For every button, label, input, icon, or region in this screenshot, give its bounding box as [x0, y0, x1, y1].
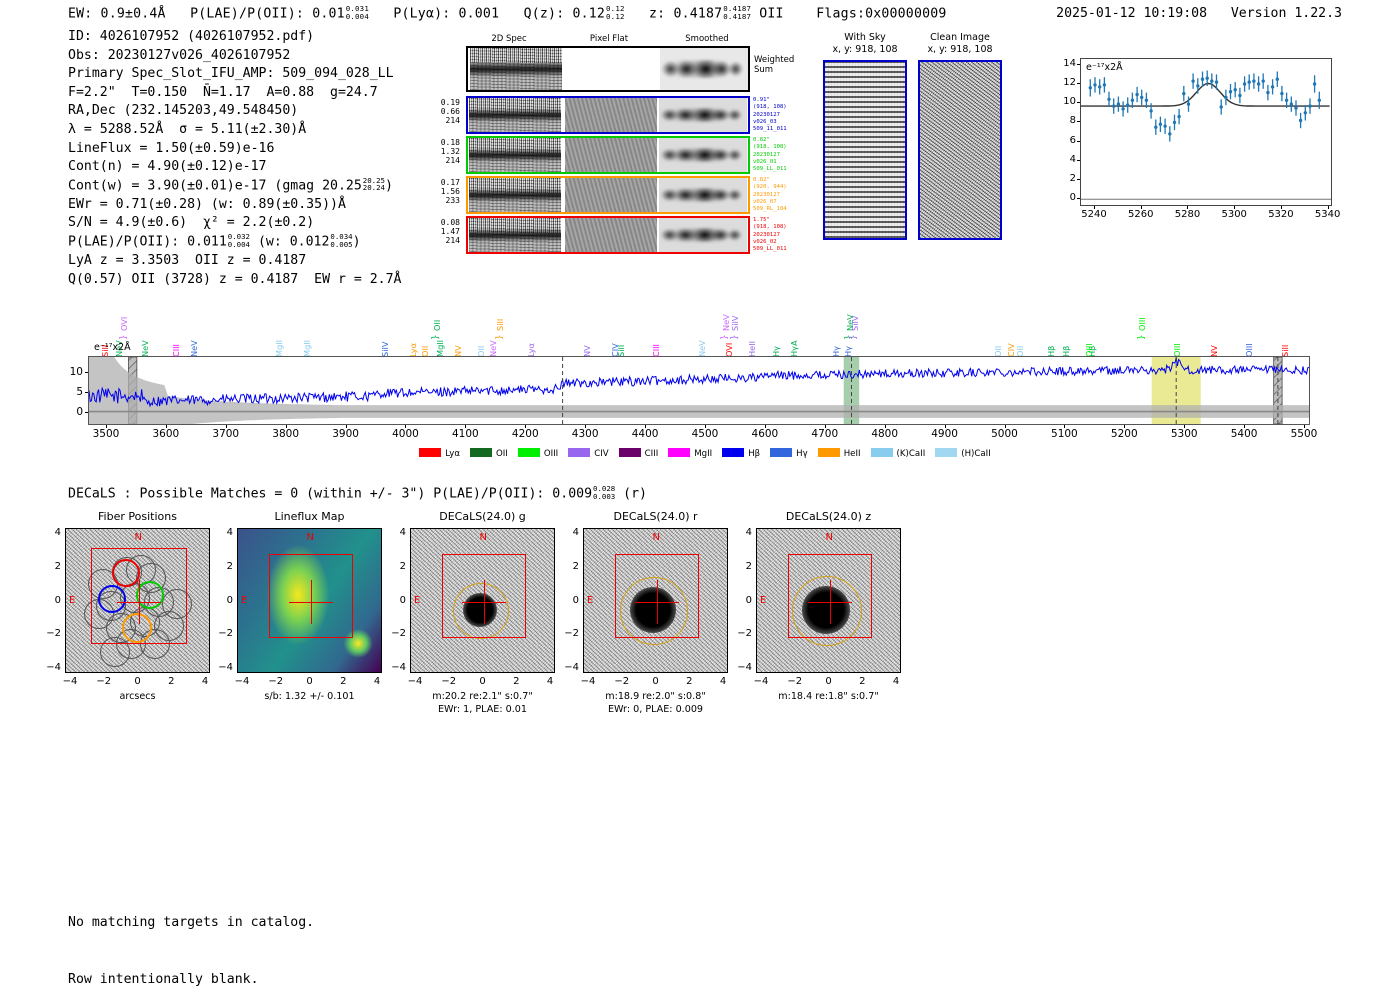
cutout-x-tick: 2 — [329, 676, 357, 687]
cutout-y-tick: 0 — [213, 595, 233, 606]
emission-line-label: MgII — [274, 340, 284, 357]
info-radec: RA,Dec (232.145203,49.548450) — [68, 102, 401, 121]
cutout-x-tick: −4 — [574, 676, 602, 687]
legend-swatch — [935, 448, 957, 457]
cutout-y-tick: 2 — [41, 561, 61, 572]
spectrum-x-tick: 4300 — [560, 428, 610, 440]
spectrum-x-tick-mark — [1064, 425, 1065, 428]
spectrum-x-tick: 4800 — [860, 428, 910, 440]
cutout-caption-secondary: EWr: 1, PLAE: 0.01 — [388, 704, 578, 716]
emission-line-label: HγA — [789, 340, 799, 357]
cutout-x-tick: 0 — [815, 676, 843, 687]
spectrum-x-tick: 4200 — [500, 428, 550, 440]
cutout-title: DECaLS(24.0) z — [756, 510, 901, 523]
cutout-caption-primary: s/b: 1.32 +/- 0.101 — [215, 691, 405, 703]
decals-cutout-panel[interactable]: DECaLS(24.0) zNE — [756, 528, 901, 673]
fiber-metric: 1.47 — [436, 227, 460, 236]
header-plae-poii: P(LAE)/P(OII): 0.01 — [190, 6, 345, 21]
fiber-metric: 0.08 — [436, 218, 460, 227]
fiber-meta-line: 509_LL_011 — [753, 246, 813, 253]
spectrum-x-tick: 4400 — [620, 428, 670, 440]
fiber-side-numbers: 0.081.47214 — [436, 218, 460, 246]
with-sky-title: With Sky — [820, 32, 910, 43]
info-id: ID: 4026107952 (4026107952.pdf) — [68, 28, 401, 47]
info-plae-errors: 0.0320.004 — [228, 233, 250, 248]
cutout-y-tick: 4 — [732, 527, 752, 538]
fiber-metric: 214 — [436, 116, 460, 125]
line-fit-flux-annotation: e⁻¹⁷x2Å — [1086, 62, 1123, 73]
cutout-y-tick: −2 — [213, 628, 233, 639]
emission-line-label: HeII — [747, 341, 757, 357]
cutout-image: NE — [583, 528, 728, 673]
cutout-x-tick: 0 — [124, 676, 152, 687]
header-summary-line: EW: 0.9±0.4Å P(LAE)/P(OII): 0.010.0310.0… — [68, 5, 947, 21]
emission-line-label: Lyα — [408, 343, 418, 357]
legend-label: (H)CaII — [961, 449, 991, 459]
spectrum-x-tick: 3600 — [141, 428, 191, 440]
cutout-y-tick: −4 — [41, 662, 61, 673]
cutout-y-tick: 2 — [386, 561, 406, 572]
spec2d-fiber-row — [466, 136, 750, 174]
cutout-x-tick: 0 — [296, 676, 324, 687]
compass-north-label: N — [480, 532, 487, 543]
emission-line-brace: } — [849, 335, 859, 340]
full-spectrum-frame — [88, 356, 1310, 425]
fiber-metric: 0.66 — [436, 107, 460, 116]
spectrum-y-tick: 5 — [58, 386, 83, 398]
emission-line-label: SiII — [495, 319, 505, 331]
cutout-x-tick: −2 — [435, 676, 463, 687]
cutout-x-tick: 4 — [536, 676, 564, 687]
line-fit-plot: e⁻¹⁷x2Å 524052605280530053205340 0246810… — [1040, 50, 1348, 245]
fit-x-tick: 5260 — [1121, 209, 1161, 220]
legend-label: HeII — [844, 449, 861, 459]
fiber-side-metadata: 0.82"(918, 108)20230127v026_01509_LL_011 — [753, 137, 813, 173]
spectrum-x-tick-mark — [765, 425, 766, 428]
spec2d-weighted-sum-row — [466, 46, 750, 92]
fiber-metric: 0.18 — [436, 138, 460, 147]
cutout-caption-primary: arcsecs — [43, 691, 233, 703]
spectrum-y-tick: 10 — [58, 366, 83, 378]
spectrum-x-tick-mark — [945, 425, 946, 428]
spectrum-y-tick: 0 — [58, 406, 83, 418]
fit-y-tick: 10 — [1050, 96, 1076, 107]
decals-cutout-panel[interactable]: Fiber PositionsNE — [65, 528, 210, 673]
cutout-y-tick: 2 — [732, 561, 752, 572]
header-z-species: OII — [759, 6, 783, 21]
spectrum-x-tick-mark — [1124, 425, 1125, 428]
cutout-y-tick: −2 — [41, 628, 61, 639]
cutout-x-tick: −2 — [608, 676, 636, 687]
info-primary-spec-slot: Primary Spec_Slot_IFU_AMP: 509_094_028_L… — [68, 65, 401, 84]
fiber-meta-line: 0.82" — [753, 177, 813, 184]
weighted-sum-label: Weighted Sum — [754, 55, 794, 75]
fiber-2dspec-image — [469, 218, 561, 252]
fiber-metric: 214 — [436, 236, 460, 245]
fiber-smoothed-image — [659, 98, 747, 132]
emission-line-label: NeV — [140, 340, 150, 357]
cutout-y-tick: 4 — [559, 527, 579, 538]
legend-swatch — [619, 448, 641, 457]
fiber-smoothed-image — [659, 178, 747, 212]
spectrum-x-tick: 5400 — [1219, 428, 1269, 440]
spectrum-x-tick: 4700 — [800, 428, 850, 440]
legend-label: Lyα — [445, 449, 460, 459]
fiber-meta-line: 20230127 — [753, 112, 813, 119]
footer-line-1: No matching targets in catalog. — [68, 913, 314, 932]
cutout-image: NE — [237, 528, 382, 673]
header-datetime: 2025-01-12 10:19:08 — [1056, 6, 1207, 21]
fiber-metric: 1.32 — [436, 147, 460, 156]
fit-y-tick-mark — [1077, 141, 1080, 142]
info-obs: Obs: 20230127v026_4026107952 — [68, 47, 401, 66]
spectrum-x-tick: 4600 — [740, 428, 790, 440]
weighted-sum-pixelflat-image — [566, 48, 658, 90]
fit-y-tick: 12 — [1050, 77, 1076, 88]
spectrum-y-tick-mark — [85, 372, 88, 373]
fiber-meta-line: (918, 108) — [753, 224, 813, 231]
cutout-y-tick: 2 — [213, 561, 233, 572]
crosshair-horizontal — [289, 602, 333, 603]
crosshair-horizontal — [808, 602, 852, 603]
emission-line-label: OIII — [1084, 343, 1094, 357]
fit-y-tick-mark — [1077, 64, 1080, 65]
emission-line-brace: } — [119, 335, 129, 340]
crosshair-horizontal — [635, 602, 679, 603]
header-z-errors: 0.41870.4187 — [723, 5, 751, 20]
cutout-y-tick: 0 — [41, 595, 61, 606]
info-lineflux: LineFlux = 1.50(±0.59)e-16 — [68, 140, 401, 159]
emission-line-brace: } — [495, 335, 505, 340]
fit-x-tick: 5240 — [1074, 209, 1114, 220]
info-cont-w: Cont(w) = 3.90(±0.01)e-17 (gmag 20.2520.… — [68, 177, 401, 196]
spectrum-x-tick: 4500 — [680, 428, 730, 440]
compass-east-label: E — [69, 595, 75, 606]
emission-line-label: MgII — [302, 340, 312, 357]
line-fit-plot-svg — [1081, 59, 1331, 205]
full-spectrum-svg — [89, 357, 1309, 424]
fiber-metric: 1.56 — [436, 187, 460, 196]
fiber-pixelflat-image — [565, 98, 657, 132]
fit-x-tick: 5300 — [1214, 209, 1254, 220]
spectrum-x-tick-mark — [825, 425, 826, 428]
info-seeing-params: F=2.2" T=0.150 N̄=1.17 A=0.88 g=24.7 — [68, 84, 401, 103]
info-plae-poii: P(LAE)/P(OII): 0.0110.0320.004 (w: 0.012… — [68, 233, 401, 252]
line-fit-plot-frame — [1080, 58, 1332, 206]
spectrum-x-tick: 3800 — [261, 428, 311, 440]
fiber-2dspec-image — [469, 138, 561, 172]
spectrum-x-tick-mark — [286, 425, 287, 428]
fit-x-tick: 5280 — [1167, 209, 1207, 220]
fit-y-tick-mark — [1077, 198, 1080, 199]
fiber-meta-line: 509_RL_104 — [753, 206, 813, 213]
fiber-side-numbers: 0.190.66214 — [436, 98, 460, 126]
header-timestamp-version: 2025-01-12 10:19:08 Version 1.22.3 — [1056, 6, 1342, 21]
header-qz-errors: 0.120.12 — [606, 5, 625, 20]
info-wavelength-sigma: λ = 5288.52Å σ = 5.11(±2.30)Å — [68, 121, 401, 140]
spec2d-fiber-row — [466, 216, 750, 254]
fiber-side-metadata: 1.75"(918, 108)20230127v026_02509_LL_011 — [753, 217, 813, 253]
fiber-metric: 0.17 — [436, 178, 460, 187]
spec2d-fiber-row — [466, 96, 750, 134]
header-version: Version 1.22.3 — [1231, 6, 1342, 21]
cutout-x-tick: 4 — [363, 676, 391, 687]
fit-y-tick-mark — [1077, 121, 1080, 122]
fiber-pixelflat-image — [565, 218, 657, 252]
spectrum-y-tick-mark — [85, 412, 88, 413]
cutout-y-tick: 4 — [386, 527, 406, 538]
fiber-side-metadata: 0.91"(918, 108)20230127v026_03509_11_011 — [753, 97, 813, 133]
fiber-smoothed-image — [659, 218, 747, 252]
cutout-caption-primary: m:18.9 re:2.0" s:0.8" — [561, 691, 751, 703]
emission-line-brace: } — [730, 335, 740, 340]
header-flags: Flags:0x00000009 — [816, 6, 946, 21]
cutout-caption-primary: m:18.4 re:1.8" s:0.7" — [734, 691, 924, 703]
fiber-pixelflat-image — [565, 178, 657, 212]
header-z: z: 0.4187 — [649, 6, 722, 21]
fiber-side-numbers: 0.181.32214 — [436, 138, 460, 166]
cutout-x-tick: −4 — [56, 676, 84, 687]
spectrum-x-tick-mark — [166, 425, 167, 428]
spectrum-x-tick: 4100 — [440, 428, 490, 440]
cutout-x-tick: 2 — [848, 676, 876, 687]
emission-line-label: OII — [432, 320, 442, 331]
spec2d-col-header-smoothed: Smoothed — [660, 34, 754, 44]
fit-y-tick: 6 — [1050, 135, 1076, 146]
fit-x-tick-mark — [1234, 206, 1235, 209]
legend-swatch — [668, 448, 690, 457]
decals-header-text: DECaLS : Possible Matches = 0 (within +/… — [68, 486, 592, 501]
cutout-title: Lineflux Map — [237, 510, 382, 523]
cutout-y-tick: 4 — [41, 527, 61, 538]
cutout-x-tick: 2 — [675, 676, 703, 687]
legend-swatch — [871, 448, 893, 457]
spectrum-y-tick-mark — [85, 392, 88, 393]
emission-line-label: OVI — [119, 317, 129, 331]
legend-swatch — [568, 448, 590, 457]
fiber-meta-line: (920, 944) — [753, 184, 813, 191]
cutout-x-tick: −4 — [228, 676, 256, 687]
decals-cutout-panel[interactable]: DECaLS(24.0) rNE — [583, 528, 728, 673]
spec2d-col-header-2dspec: 2D Spec — [462, 34, 556, 44]
cutout-y-tick: 0 — [559, 595, 579, 606]
fit-x-tick-mark — [1328, 206, 1329, 209]
fiber-side-numbers: 0.171.56233 — [436, 178, 460, 206]
decals-cutout-panel[interactable]: DECaLS(24.0) gNE — [410, 528, 555, 673]
fiber-meta-line: v026_01 — [753, 159, 813, 166]
cutout-x-tick: 2 — [502, 676, 530, 687]
emission-line-brace: } — [720, 335, 730, 340]
fit-y-tick: 14 — [1050, 58, 1076, 69]
spec2d-col-header-pixelflat: Pixel Flat — [562, 34, 656, 44]
cutout-caption-primary: m:20.2 re:2.1" s:0.7" — [388, 691, 578, 703]
spectrum-x-tick-mark — [1304, 425, 1305, 428]
cutout-x-tick: −4 — [747, 676, 775, 687]
fit-y-tick-mark — [1077, 179, 1080, 180]
info-cont-n: Cont(n) = 4.90(±0.12)e-17 — [68, 158, 401, 177]
spectrum-x-tick-mark — [645, 425, 646, 428]
cutout-caption-secondary: EWr: 0, PLAE: 0.009 — [561, 704, 751, 716]
decals-plae-errors: 0.0280.003 — [593, 485, 615, 500]
fit-y-tick: 8 — [1050, 115, 1076, 126]
info-ewr: EWr = 0.71(±0.28) (w: 0.89(±0.35))Å — [68, 196, 401, 215]
fiber-smoothed-image — [659, 138, 747, 172]
emission-line-brace: } — [1137, 335, 1147, 340]
spectrum-x-tick-mark — [226, 425, 227, 428]
compass-east-label: E — [241, 595, 247, 606]
legend-label: OII — [496, 449, 508, 459]
emission-line-brace: } — [431, 335, 441, 340]
fiber-2dspec-image — [469, 178, 561, 212]
spectrum-legend: LyαOIIOIIICIVCIIIMgIIHβHγHeII(K)CaII(H)C… — [0, 448, 1400, 459]
legend-label: Hγ — [796, 449, 808, 459]
fit-x-tick: 5320 — [1261, 209, 1301, 220]
cutout-x-tick: −2 — [262, 676, 290, 687]
spectrum-x-tick: 5000 — [980, 428, 1030, 440]
emission-line-label: NeV — [488, 340, 498, 357]
fiber-metric: 214 — [436, 156, 460, 165]
info-plae-w-errors: 0.0340.005 — [330, 233, 352, 248]
legend-label: CIV — [594, 449, 608, 459]
fiber-2dspec-image — [469, 98, 561, 132]
legend-swatch — [470, 448, 492, 457]
spectrum-x-tick-mark — [525, 425, 526, 428]
emission-line-label: OIII — [1137, 317, 1147, 331]
emission-line-label: NeV — [697, 340, 707, 357]
spectrum-x-tick: 5300 — [1159, 428, 1209, 440]
fit-x-tick-mark — [1141, 206, 1142, 209]
fit-y-tick-mark — [1077, 160, 1080, 161]
cutout-y-tick: 0 — [732, 595, 752, 606]
cutout-y-tick: −2 — [386, 628, 406, 639]
compass-east-label: E — [587, 595, 593, 606]
legend-label: MgII — [694, 449, 712, 459]
fiber-meta-line: v026_07 — [753, 199, 813, 206]
spectrum-x-tick: 3900 — [321, 428, 371, 440]
fit-y-tick-mark — [1077, 83, 1080, 84]
fiber-meta-line: (918, 108) — [753, 104, 813, 111]
with-sky-image — [823, 60, 907, 240]
spectrum-x-tick-mark — [1244, 425, 1245, 428]
legend-swatch — [722, 448, 744, 457]
cutout-x-tick: −2 — [90, 676, 118, 687]
emission-line-label: NeV — [189, 340, 199, 357]
info-sn-chi2: S/N = 4.9(±0.6) χ² = 2.2(±0.2) — [68, 214, 401, 233]
cutout-y-tick: 2 — [559, 561, 579, 572]
compass-north-label: N — [307, 532, 314, 543]
legend-label: Hβ — [748, 449, 760, 459]
cutout-y-tick: −4 — [559, 662, 579, 673]
emission-line-label: SiIV — [380, 342, 390, 358]
spectrum-x-tick-mark — [346, 425, 347, 428]
with-sky-subtitle: x, y: 918, 108 — [820, 44, 910, 55]
cutout-x-tick: 4 — [709, 676, 737, 687]
fiber-meta-line: 1.75" — [753, 217, 813, 224]
header-qz: Q(z): 0.12 — [524, 6, 605, 21]
spectrum-x-tick-mark — [885, 425, 886, 428]
spectrum-x-tick-mark — [1005, 425, 1006, 428]
compass-north-label: N — [135, 532, 142, 543]
info-gmag-errors: 20.2520.24 — [363, 177, 385, 192]
emission-line-label: Lyα — [526, 343, 536, 357]
spectrum-x-tick: 3500 — [81, 428, 131, 440]
fiber-meta-line: 20230127 — [753, 152, 813, 159]
fit-x-tick-mark — [1187, 206, 1188, 209]
fiber-meta-line: 20230127 — [753, 192, 813, 199]
source-info-block: ID: 4026107952 (4026107952.pdf) Obs: 202… — [68, 28, 401, 289]
decals-header-band: (r) — [623, 486, 647, 501]
fiber-pixelflat-image — [565, 138, 657, 172]
cutout-x-tick: 4 — [191, 676, 219, 687]
spectrum-x-tick-mark — [705, 425, 706, 428]
decals-header: DECaLS : Possible Matches = 0 (within +/… — [68, 485, 647, 501]
cutout-y-tick: −4 — [732, 662, 752, 673]
fiber-metric: 233 — [436, 196, 460, 205]
cutout-title: DECaLS(24.0) g — [410, 510, 555, 523]
cutout-y-tick: 0 — [386, 595, 406, 606]
footer-line-2: Row intentionally blank. — [68, 970, 314, 989]
clean-image-title: Clean Image — [915, 32, 1005, 43]
spectrum-x-tick: 4000 — [380, 428, 430, 440]
cutout-x-tick: 0 — [642, 676, 670, 687]
cutout-image: NE — [410, 528, 555, 673]
cutout-image: NE — [65, 528, 210, 673]
cutout-y-tick: 4 — [213, 527, 233, 538]
cutout-x-tick: 4 — [882, 676, 910, 687]
fiber-side-metadata: 0.82"(920, 944)20230127v026_07509_RL_104 — [753, 177, 813, 213]
fit-x-tick: 5340 — [1308, 209, 1348, 220]
cutout-x-tick: −2 — [781, 676, 809, 687]
cutout-y-tick: −2 — [732, 628, 752, 639]
footer-note: No matching targets in catalog. Row inte… — [68, 875, 314, 1008]
fit-y-tick: 4 — [1050, 154, 1076, 165]
fit-y-tick: 2 — [1050, 173, 1076, 184]
fiber-meta-line: v026_03 — [753, 119, 813, 126]
emission-line-label: SiIV — [730, 316, 740, 332]
cutout-image: NE — [756, 528, 901, 673]
cutout-x-tick: 2 — [157, 676, 185, 687]
compass-east-label: E — [760, 595, 766, 606]
spectrum-x-tick-mark — [1184, 425, 1185, 428]
header-plya: P(Lyα): 0.001 — [393, 6, 499, 21]
fiber-meta-line: 0.91" — [753, 97, 813, 104]
emission-line-label: OVI — [724, 343, 734, 357]
header-plae-errors: 0.0310.004 — [346, 5, 369, 20]
clean-image-image — [918, 60, 1002, 240]
legend-label: OIII — [544, 449, 558, 459]
fit-x-tick-mark — [1281, 206, 1282, 209]
fiber-meta-line: (918, 108) — [753, 144, 813, 151]
emission-line-label: MgII — [435, 340, 445, 357]
spectrum-x-tick-mark — [465, 425, 466, 428]
spectrum-x-tick: 5500 — [1279, 428, 1329, 440]
weighted-sum-2dspec-image — [470, 48, 562, 90]
spec2d-fiber-row — [466, 176, 750, 214]
decals-cutout-panel[interactable]: Lineflux MapNE — [237, 528, 382, 673]
cutout-y-tick: −4 — [213, 662, 233, 673]
fit-x-tick-mark — [1094, 206, 1095, 209]
emission-line-label: OIII — [1244, 343, 1254, 357]
spectrum-x-tick-mark — [106, 425, 107, 428]
fiber-meta-line: 509_LL_011 — [753, 166, 813, 173]
clean-image-subtitle: x, y: 918, 108 — [915, 44, 1005, 55]
spectrum-x-tick-mark — [405, 425, 406, 428]
fit-y-tick: 0 — [1050, 192, 1076, 203]
cutout-x-tick: −4 — [401, 676, 429, 687]
cutout-title: Fiber Positions — [65, 510, 210, 523]
spectrum-x-tick: 4900 — [920, 428, 970, 440]
crosshair-horizontal — [462, 602, 506, 603]
